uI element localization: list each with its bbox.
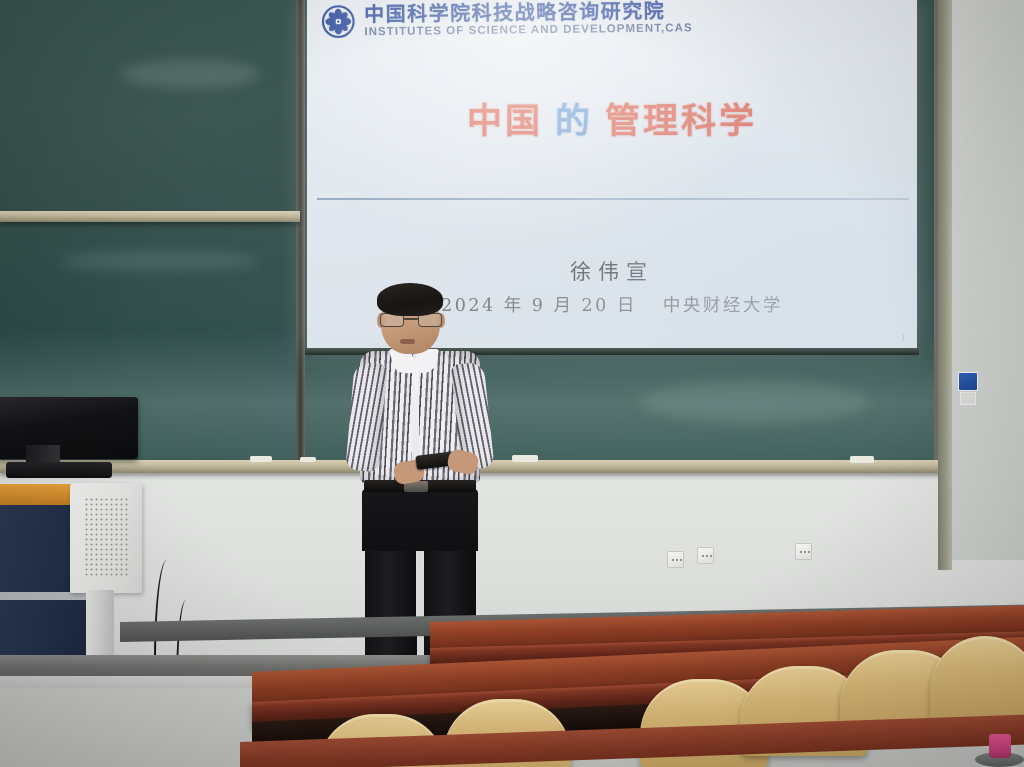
slide-page-number: 1 [901, 332, 907, 344]
wall-notice-sign [958, 372, 978, 391]
presenter-mouth [400, 339, 415, 344]
organization-name: 中国科学院科技战略咨询研究院 INSTITUTES OF SCIENCE AND… [364, 0, 693, 39]
blackboard-right-edge [938, 0, 952, 570]
display-monitor[interactable] [0, 397, 138, 459]
power-outlet[interactable] [795, 543, 812, 560]
chalk-smudge [60, 250, 260, 272]
slide-title: 中国的管理科学 [307, 93, 917, 144]
slide-author: 徐伟宣 [307, 256, 917, 286]
title-segment-2: 的 [555, 102, 593, 142]
title-segment-1: 中国 [467, 102, 543, 142]
slide-divider-line [317, 198, 909, 200]
monitor-stand-base [6, 462, 112, 478]
glasses-bridge [404, 318, 418, 320]
chalk-eraser [850, 456, 874, 463]
pink-cup[interactable] [989, 734, 1011, 758]
chalk-smudge [640, 380, 870, 424]
power-outlet[interactable] [667, 551, 684, 568]
lectern-panel-gap [0, 592, 88, 600]
power-outlet[interactable] [697, 547, 714, 564]
org-name-cn: 中国科学院科技战略咨询研究院 [364, 0, 692, 24]
speaker-grille [84, 497, 128, 577]
slide-venue: 中央财经大学 [663, 296, 783, 316]
chalk-ledge-upper [0, 211, 300, 222]
slide-header: 中国科学院科技战略咨询研究院 INSTITUTES OF SCIENCE AND… [307, 0, 917, 46]
blackboard-seam [296, 0, 305, 470]
presenter-trousers [362, 489, 478, 551]
lecture-hall-photo: 中国科学院科技战略咨询研究院 INSTITUTES OF SCIENCE AND… [0, 0, 1024, 767]
right-wall [940, 0, 1024, 560]
title-segment-3: 管理科学 [605, 102, 757, 142]
wall-sign-holder [960, 392, 976, 405]
leg-gap [416, 541, 423, 621]
cas-emblem-icon [321, 4, 355, 38]
chalk-piece [250, 456, 272, 462]
chalk-piece [300, 457, 316, 462]
org-name-en: INSTITUTES OF SCIENCE AND DEVELOPMENT,CA… [364, 23, 692, 39]
presenter-leg-left [365, 545, 417, 669]
presenter-hair [377, 283, 443, 316]
wall-speaker [70, 483, 142, 593]
chalk-smudge [120, 60, 260, 88]
